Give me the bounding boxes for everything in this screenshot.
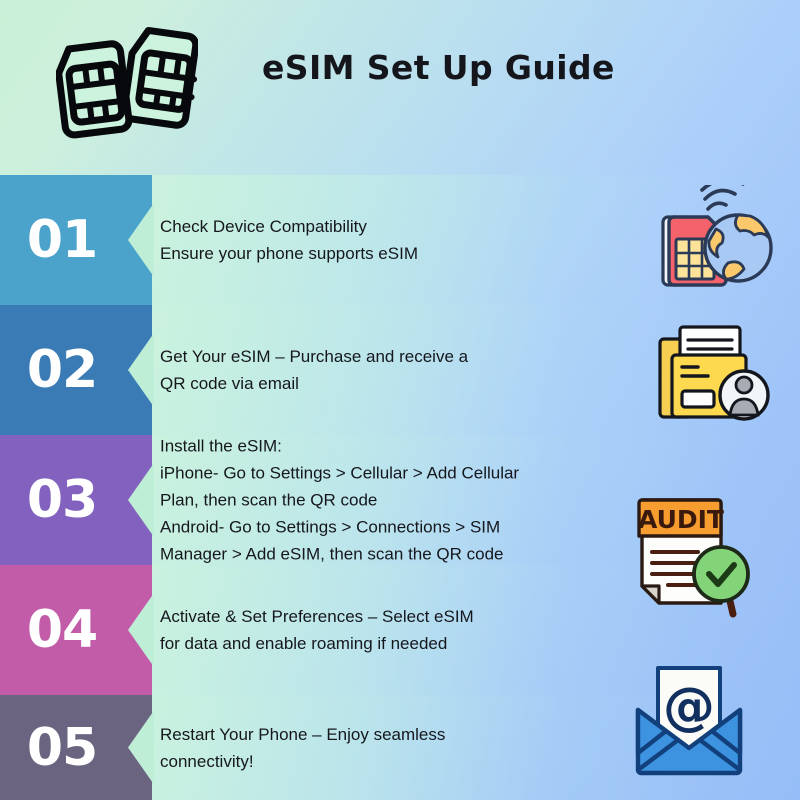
poster-header: eSIM Set Up Guide xyxy=(0,0,800,168)
step-row-2: 02 Get Your eSIM – Purchase and receive … xyxy=(0,305,800,435)
step-number-label: 04 xyxy=(0,604,124,656)
at-symbol-label: @ xyxy=(663,677,715,737)
step-row-1: 01 Check Device Compatibility Ensure you… xyxy=(0,175,800,305)
step-number-label: 03 xyxy=(0,474,124,526)
step-number-label: 05 xyxy=(0,722,124,774)
step-description: Get Your eSIM – Purchase and receive a Q… xyxy=(160,343,580,397)
page-title: eSIM Set Up Guide xyxy=(262,48,722,87)
step-number-label: 01 xyxy=(0,214,124,266)
step-description: Restart Your Phone – Enjoy seamless conn… xyxy=(160,721,580,775)
audit-document-checkmark-icon: AUDIT xyxy=(628,492,756,618)
sim-card-globe-signal-icon xyxy=(656,185,776,295)
audit-label: AUDIT xyxy=(638,505,724,534)
step-description: Activate & Set Preferences – Select eSIM… xyxy=(160,603,580,657)
step-description: Check Device Compatibility Ensure your p… xyxy=(160,213,580,267)
esim-setup-guide-poster: eSIM Set Up Guide 01 Check Device Compat… xyxy=(0,0,800,800)
step-number-label: 02 xyxy=(0,344,124,396)
dual-sim-card-icon xyxy=(56,24,198,146)
step-description: Install the eSIM: iPhone- Go to Settings… xyxy=(160,433,590,568)
email-envelope-at-icon: @ xyxy=(630,662,750,778)
document-folder-user-icon xyxy=(656,315,776,425)
